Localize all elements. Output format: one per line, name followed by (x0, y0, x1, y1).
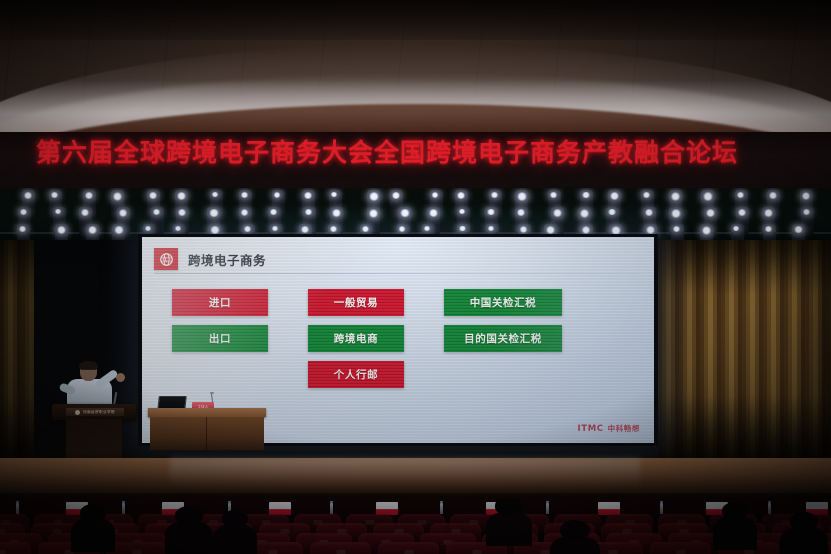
stage-light-bulb (579, 209, 591, 218)
stage-light-bulb (240, 209, 250, 216)
stage-light-bulb (701, 226, 713, 235)
slide-column-2: 一般贸易跨境电商个人行邮 (308, 289, 404, 388)
audience-member-head (80, 504, 106, 521)
bottle-cap (330, 501, 333, 503)
stage-light-bulb (802, 209, 811, 215)
stage-curtain-right (658, 240, 831, 462)
auditorium-seat (378, 542, 439, 554)
ceiling-top-shadow (0, 0, 831, 40)
stage-light-bulb (431, 192, 440, 198)
stage-light-bulb (18, 226, 27, 232)
bottle-cap (16, 501, 19, 503)
stage-light-bulb (736, 192, 745, 198)
stage-light-bulb (269, 209, 278, 215)
institution-emblem-icon (75, 410, 80, 415)
seat-number-plate (132, 550, 141, 554)
audience-member-head (222, 510, 248, 527)
speaker-hand (116, 373, 125, 382)
stage-light-bulb (768, 192, 778, 199)
auditorium-seating (0, 498, 831, 554)
water-bottle (330, 503, 333, 514)
seat-number-plate (404, 550, 413, 554)
stage-floor-gloss (0, 458, 831, 498)
stage-light-bulb (670, 192, 682, 201)
stage-light-bulb (398, 226, 407, 232)
slide-box: 跨境电商 (308, 325, 404, 352)
bottle-cap (768, 501, 771, 503)
seat-number-plate (540, 550, 549, 554)
audience-member-head (560, 520, 590, 539)
stage-light-bulb (50, 192, 59, 198)
bottle-cap (546, 501, 549, 503)
conference-hall-photo: 第六届全球跨境电子商务大会全国跨境电子商务产教融合论坛 跨境电子商务 进口出口一… (0, 0, 831, 554)
seat-number-plate (0, 550, 5, 554)
stage-light-bulb (607, 209, 616, 215)
stage-light-bulb (174, 226, 182, 231)
stage-light-bulb (670, 209, 682, 218)
slide-column-3: 中国关检汇税目的国关检汇税 (444, 289, 562, 352)
audience-member-body (780, 527, 828, 554)
podium-plate-text: 河南经贸职业学院 (83, 410, 115, 415)
stage-light-bulb (391, 192, 401, 199)
stage-light-bulb (240, 192, 249, 198)
bottle-cap (660, 501, 663, 503)
stage-table: 主持人 (148, 408, 266, 450)
water-bottle (122, 503, 125, 514)
stage-light-bulb (458, 226, 466, 231)
stage-light-bulb (273, 192, 282, 198)
table-microphone-head (210, 392, 214, 394)
brand-latin: ITMC (578, 424, 604, 434)
stage-light-bulb (118, 209, 129, 217)
seat-number-plate (268, 550, 277, 554)
audience-member-body (71, 518, 115, 552)
stage-light-bulb (113, 226, 124, 234)
bottle-cap (122, 501, 125, 503)
audience-member-body (213, 524, 257, 554)
slide-box: 进口 (172, 289, 268, 316)
stage-light-bulb (243, 226, 252, 232)
stage-light-bulb (144, 226, 152, 231)
stage-light-bulb (702, 192, 714, 201)
audience-member-head (495, 498, 522, 515)
stage-light-bulb (516, 209, 526, 216)
slide-box: 一般贸易 (308, 289, 404, 316)
water-bottle (768, 503, 771, 514)
audience-member-head (722, 502, 748, 519)
seat-number-plate (365, 520, 374, 525)
stage-light-bulb (490, 192, 499, 198)
water-bottle (546, 503, 549, 514)
conference-banner-text: 第六届全球跨境电子商务大会全国跨境电子商务产教融合论坛 (36, 138, 831, 168)
slide-column-1: 进口出口 (172, 289, 268, 352)
stage-light-bulb (148, 192, 158, 199)
water-bottle (440, 503, 443, 514)
slide-diagram: 进口出口一般贸易跨境电商个人行邮中国关检汇税目的国关检汇税 (172, 289, 634, 388)
table-top (148, 408, 266, 417)
slide-box: 个人行邮 (308, 361, 404, 388)
auditorium-seat (650, 542, 711, 554)
seat-number-plate (676, 550, 685, 554)
stage-light-bulb (56, 226, 67, 234)
slide-box: 目的国关检汇税 (444, 325, 562, 352)
bottle-cap (440, 501, 443, 503)
stage-light-bulb (300, 226, 310, 233)
auditorium-seat (310, 542, 371, 554)
stage-light-bulb (801, 192, 812, 200)
stage-light-bulb (423, 226, 431, 231)
auditorium-seat (0, 542, 31, 554)
audience-member-head (175, 506, 203, 524)
audience-member-head (790, 512, 818, 530)
seat-number-plate (744, 550, 753, 554)
slide-title: 跨境电子商务 (188, 250, 266, 269)
slide-title-divider (154, 273, 642, 274)
stage-light-bulb (737, 209, 747, 216)
auditorium-seat (106, 542, 167, 554)
stage-light-bulb (331, 209, 342, 217)
stage-light-bulb (516, 192, 528, 201)
stage-light-bulb (304, 209, 313, 215)
table-front (150, 417, 264, 450)
table-seam (206, 417, 207, 450)
audience-member-body (165, 521, 213, 554)
audience-member-body (713, 516, 757, 550)
stage-light-bulb (303, 192, 313, 199)
seat-number-plate (608, 550, 617, 554)
stage-curtain-left (0, 240, 34, 462)
stage-light-bulb (208, 209, 219, 217)
seat-number-plate (336, 550, 345, 554)
stage-light-bulb (428, 209, 439, 217)
water-bottle (660, 503, 663, 514)
slide-header: 跨境电子商务 (154, 247, 642, 271)
slide-footer-brand: ITMC 中科畅想 (578, 423, 640, 434)
stage-light-bulb (368, 209, 380, 218)
podium-nameplate: 河南经贸职业学院 (66, 408, 124, 416)
audience-member-body (486, 512, 532, 546)
stage-light-bulb (644, 209, 654, 216)
bottle-cap (228, 501, 231, 503)
stage-light-bulb (112, 192, 124, 201)
globe-icon (154, 248, 178, 270)
stage-light-bulb (552, 209, 563, 217)
stage-light-bulb (645, 226, 656, 234)
stage-light-bulb (519, 226, 529, 233)
water-bottle (16, 503, 19, 514)
slide-box: 中国关检汇税 (444, 289, 562, 316)
stage-light-bulb (609, 192, 620, 200)
glasses-icon (81, 369, 96, 373)
stage-light-bulb (458, 209, 466, 214)
seat-number-plate (472, 550, 481, 554)
slide-box: 出口 (172, 325, 268, 352)
brand-chinese: 中科畅想 (608, 423, 640, 434)
stage-light-bulb (80, 209, 90, 216)
